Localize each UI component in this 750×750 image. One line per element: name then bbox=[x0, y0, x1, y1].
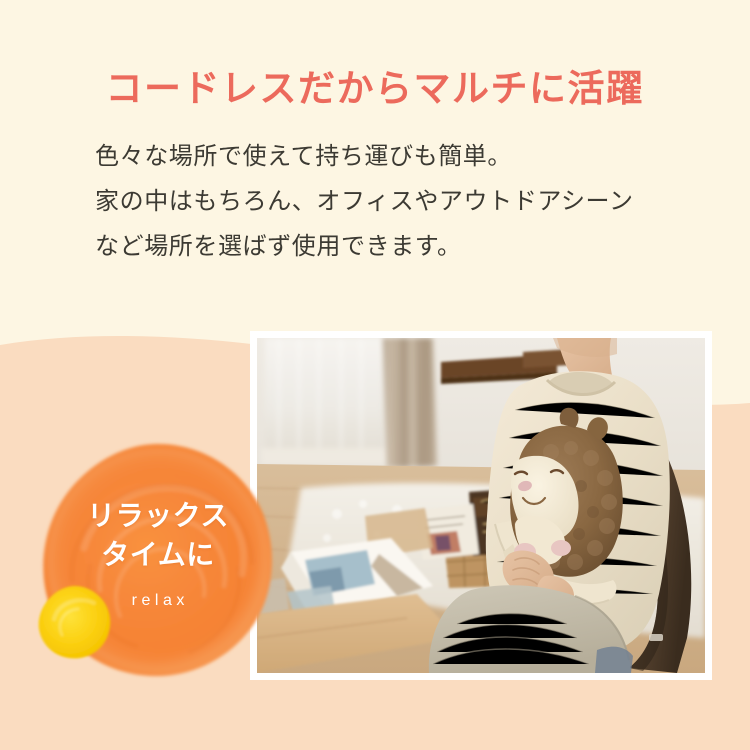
lifestyle-photo bbox=[257, 338, 705, 673]
relax-badge-line-2: タイムに bbox=[38, 535, 278, 574]
page-title: コードレスだからマルチに活躍 bbox=[0, 58, 750, 112]
lifestyle-photo-illustration bbox=[257, 338, 705, 673]
relax-badge-title: リラックス タイムに bbox=[38, 496, 278, 574]
yellow-accent-dot bbox=[36, 583, 114, 661]
description-line-3: など場所を選ばず使用できます。 bbox=[95, 224, 634, 269]
description-line-1: 色々な場所で使えて持ち運びも簡単。 bbox=[95, 134, 634, 179]
lifestyle-photo-frame bbox=[250, 331, 712, 680]
description-line-2: 家の中はもちろん、オフィスやアウトドアシーン bbox=[95, 179, 634, 224]
relax-badge-line-1: リラックス bbox=[38, 496, 278, 535]
promo-banner: コードレスだからマルチに活躍 色々な場所で使えて持ち運びも簡単。 家の中はもちろ… bbox=[0, 0, 750, 750]
description-text: 色々な場所で使えて持ち運びも簡単。 家の中はもちろん、オフィスやアウトドアシーン… bbox=[95, 134, 634, 269]
